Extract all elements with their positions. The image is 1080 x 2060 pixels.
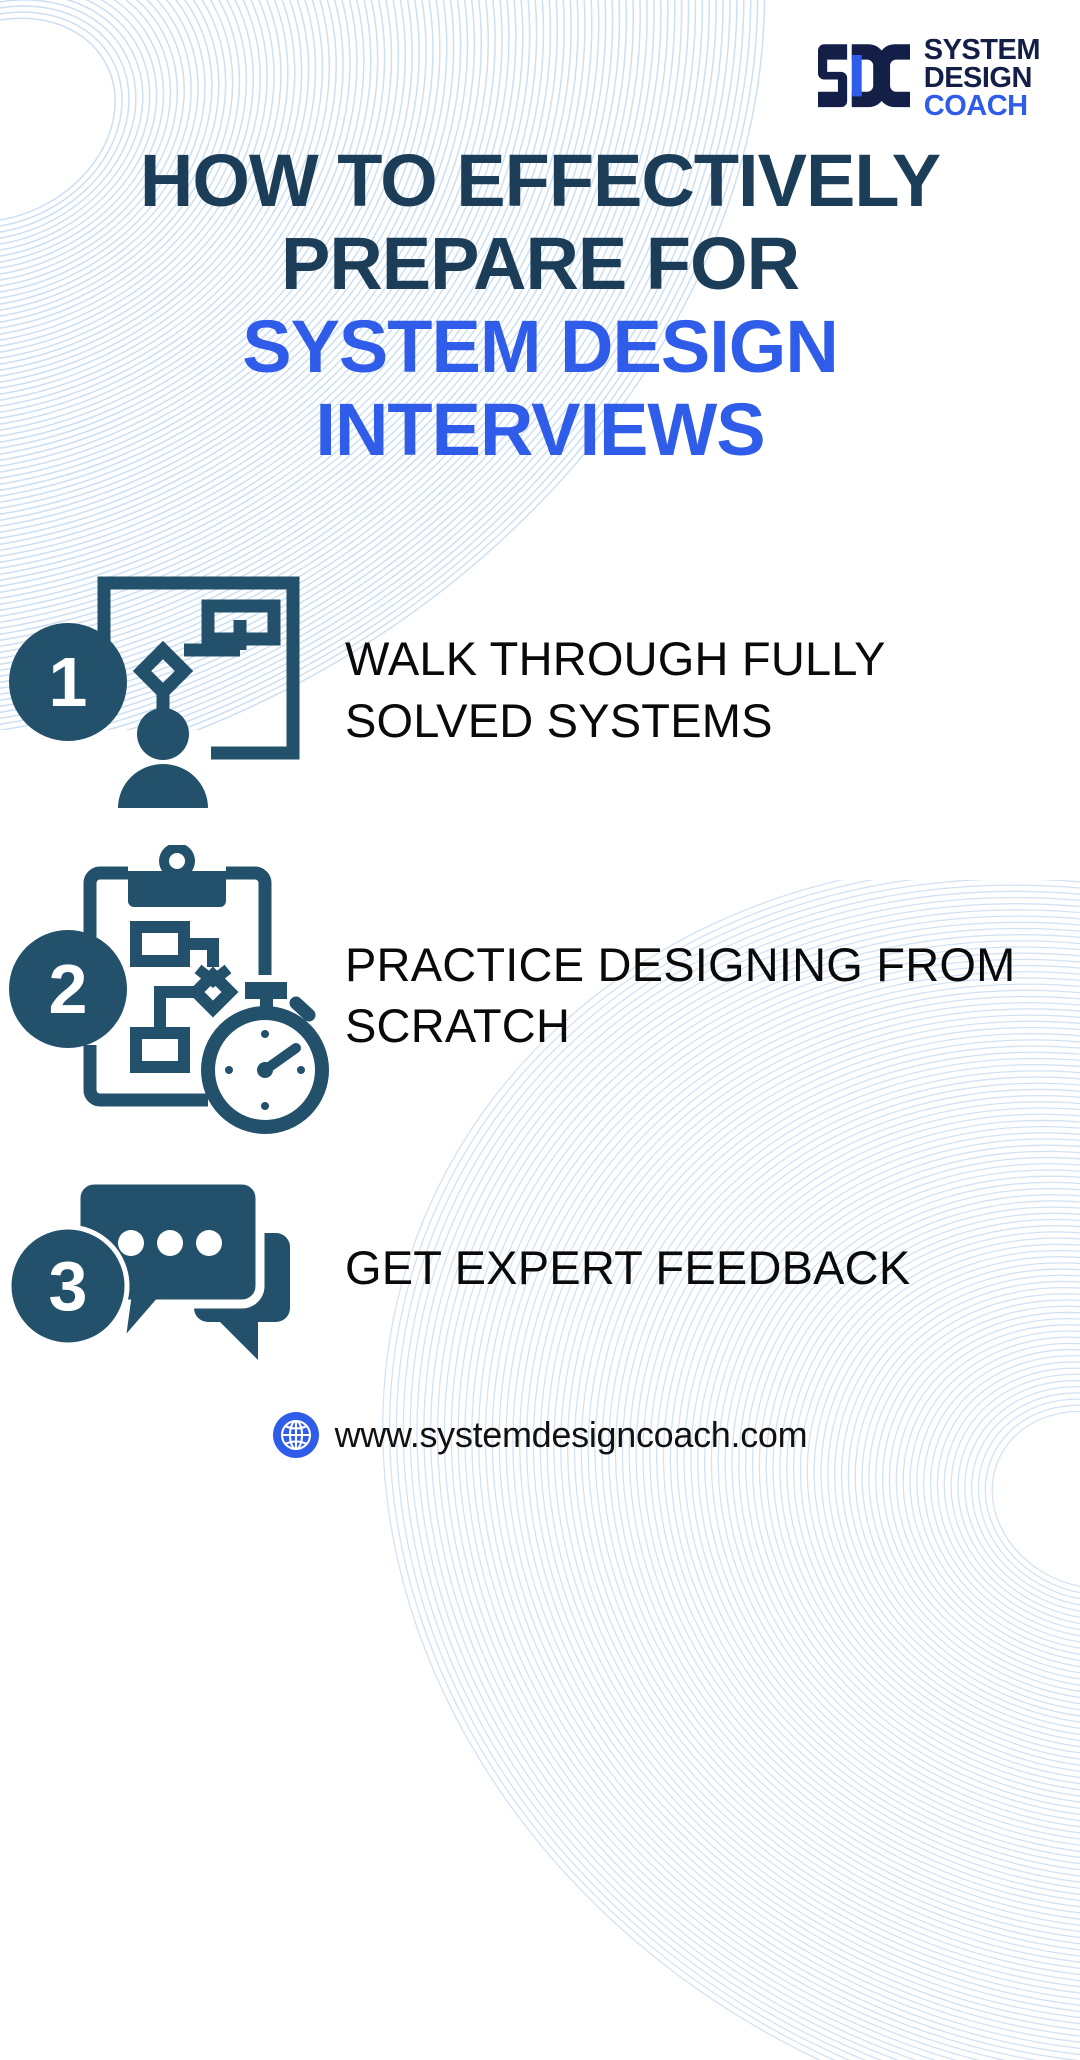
brand-word-system: SYSTEM — [924, 36, 1040, 64]
brand-wordmark: SYSTEM DESIGN COACH — [924, 36, 1040, 120]
step-3-number: 3 — [48, 1247, 87, 1325]
step-2-number: 2 — [48, 950, 87, 1028]
presenter-whiteboard-flowchart-icon: 1 — [8, 558, 338, 818]
clipboard-flowchart-stopwatch-icon: 2 — [8, 845, 338, 1145]
step-1-label: WALK THROUGH FULLY SOLVED SYSTEMS — [345, 628, 1080, 750]
title-line-1: HOW TO EFFECTIVELY — [0, 140, 1080, 223]
title-line-3: SYSTEM DESIGN — [0, 306, 1080, 389]
step-3-label: GET EXPERT FEEDBACK — [345, 1237, 940, 1298]
page-title: HOW TO EFFECTIVELY PREPARE FOR SYSTEM DE… — [0, 140, 1080, 472]
step-1-icon-group: 1 — [0, 558, 345, 818]
list-item: 2 PRACTICE DESIGNING FROM SCRATCH — [0, 830, 1080, 1160]
list-item: 3 GET EXPERT FEEDBACK — [0, 1160, 1080, 1375]
list-item: 1 WALK THROUGH FULLY SOLVED SYSTEMS — [0, 545, 1080, 830]
website-url: www.systemdesigncoach.com — [335, 1414, 808, 1456]
brand-word-design: DESIGN — [924, 64, 1040, 92]
brand-logo: SYSTEM DESIGN COACH — [818, 36, 1040, 120]
sdc-monogram-icon — [818, 39, 910, 117]
step-3-icon-group: 3 — [0, 1168, 345, 1368]
step-2-label: PRACTICE DESIGNING FROM SCRATCH — [345, 934, 1080, 1056]
title-line-4: INTERVIEWS — [0, 389, 1080, 472]
speech-bubbles-icon: 3 — [8, 1168, 338, 1368]
steps-list: 1 WALK THROUGH FULLY SOLVED SYSTEMS — [0, 545, 1080, 1375]
step-1-number: 1 — [48, 643, 87, 721]
step-2-icon-group: 2 — [0, 845, 345, 1145]
globe-icon — [273, 1412, 319, 1458]
title-line-2: PREPARE FOR — [0, 223, 1080, 306]
footer: www.systemdesigncoach.com — [0, 1412, 1080, 1458]
brand-word-coach: COACH — [924, 92, 1040, 120]
